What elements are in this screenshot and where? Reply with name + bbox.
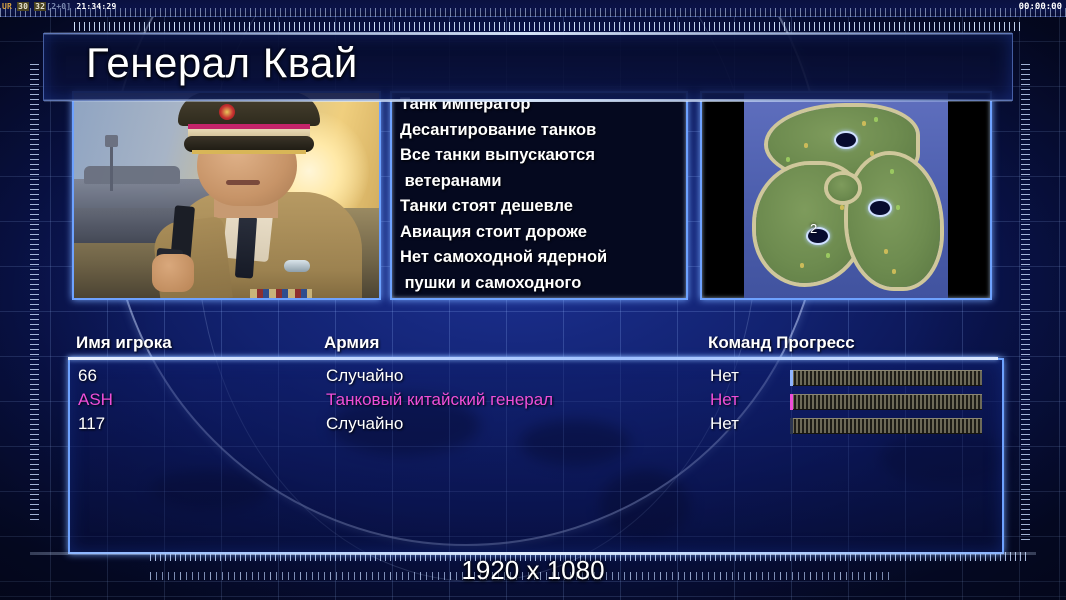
player-progress-bar bbox=[792, 394, 982, 410]
top-ruler-ticks bbox=[0, 8, 1066, 17]
page-title: Генерал Квай bbox=[86, 39, 358, 87]
title-edge-bottom bbox=[44, 99, 1012, 102]
title-edge-top bbox=[44, 32, 1012, 35]
status-bracket: [2+0] bbox=[46, 2, 71, 11]
player-name[interactable]: ASH bbox=[78, 390, 113, 410]
table-row[interactable]: 66 Случайно Нет bbox=[70, 366, 1002, 390]
player-name[interactable]: 117 bbox=[78, 414, 105, 434]
player-progress-bar bbox=[792, 370, 982, 386]
frame-ruler-right bbox=[1021, 64, 1030, 542]
table-row[interactable]: 117 Случайно Нет bbox=[70, 414, 1002, 438]
player-list-header: Имя игрока Армия Команд Прогресс bbox=[68, 333, 998, 357]
lobby-screen: UR 30 32[2+0] 21:34:29 00:00:00 Генерал … bbox=[0, 0, 1066, 600]
column-header-army: Армия bbox=[324, 333, 379, 353]
column-header-team-progress: Команд Прогресс bbox=[708, 333, 855, 353]
player-team[interactable]: Нет bbox=[710, 390, 739, 410]
player-team[interactable]: Нет bbox=[710, 414, 739, 434]
title-panel: Генерал Квай bbox=[43, 33, 1013, 101]
status-value-1: 30 bbox=[17, 2, 29, 11]
status-clock: 21:34:29 bbox=[76, 2, 116, 11]
system-timer-right: 00:00:00 bbox=[1019, 1, 1062, 13]
player-team[interactable]: Нет bbox=[710, 366, 739, 386]
player-army[interactable]: Случайно bbox=[326, 414, 403, 434]
system-status-left: UR 30 32[2+0] 21:34:29 bbox=[2, 1, 116, 12]
player-progress-bar bbox=[792, 418, 982, 434]
status-value-2: 32 bbox=[34, 2, 46, 11]
status-tag: UR bbox=[2, 2, 12, 11]
frame-ruler-left bbox=[30, 64, 39, 524]
table-row[interactable]: ASH Танковый китайский генерал Нет bbox=[70, 390, 1002, 414]
progress-leader-mark bbox=[790, 394, 793, 410]
resolution-label: 1920 x 1080 bbox=[0, 555, 1066, 586]
frame-ruler-top bbox=[74, 22, 1024, 31]
player-army[interactable]: Танковый китайский генерал bbox=[326, 390, 553, 410]
player-name[interactable]: 66 bbox=[78, 366, 97, 386]
header-underline bbox=[68, 357, 998, 360]
player-army[interactable]: Случайно bbox=[326, 366, 403, 386]
player-list-panel: 66 Случайно Нет ASH Танковый китайский г… bbox=[68, 358, 1004, 554]
progress-leader-mark bbox=[790, 370, 793, 386]
column-header-player-name: Имя игрока bbox=[76, 333, 172, 353]
system-top-bar bbox=[0, 0, 1066, 17]
progress-leader-mark bbox=[790, 418, 793, 434]
